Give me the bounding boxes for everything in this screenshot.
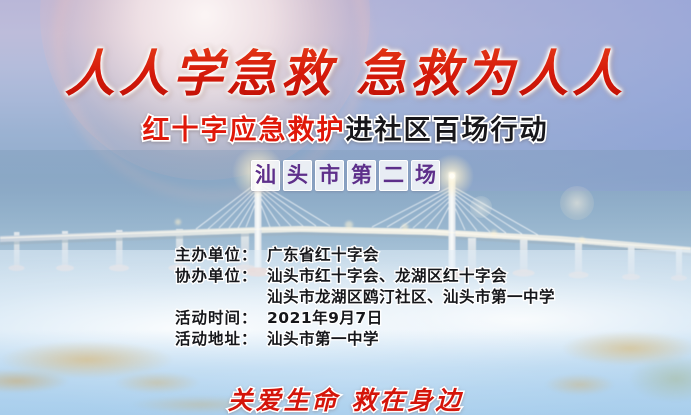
- main-title: 人人学急救 急救为人人: [0, 34, 691, 106]
- info-row-label: 活动地址：: [175, 329, 267, 350]
- subtitle-dark-part: 进社区百场行动: [346, 115, 549, 146]
- subtitle: 红十字应急救护进社区百场行动: [0, 108, 691, 147]
- session-badge-char-1: 头: [283, 160, 312, 191]
- info-row: 协办单位：汕头市红十字会、龙湖区红十字会: [175, 266, 555, 287]
- info-row: 活动时间：2021年9月7日: [175, 308, 555, 329]
- info-row: 主办单位：广东省红十字会: [175, 245, 555, 266]
- info-row-value: 汕头市红十字会、龙湖区红十字会: [267, 266, 507, 287]
- info-row-value: 广东省红十字会: [267, 245, 379, 266]
- poster-canvas: 人人学急救 急救为人人 红十字应急救护进社区百场行动 汕头市第二场 主办单位：广…: [0, 0, 691, 415]
- session-badge: 汕头市第二场: [0, 160, 691, 191]
- session-badge-char-2: 市: [315, 160, 344, 191]
- session-badge-char-4: 二: [379, 160, 408, 191]
- bottom-slogan: 关爱生命 救在身边: [0, 381, 691, 415]
- info-row: 汕头市龙湖区鸥汀社区、汕头市第一中学: [175, 287, 555, 308]
- info-row-label: 主办单位：: [175, 245, 267, 266]
- info-row-label: [175, 287, 267, 308]
- subtitle-red-part: 红十字应急救护: [143, 115, 346, 146]
- session-badge-char-0: 汕: [251, 160, 280, 191]
- info-row-value: 汕头市龙湖区鸥汀社区、汕头市第一中学: [267, 287, 555, 308]
- info-row-label: 活动时间：: [175, 308, 267, 329]
- info-row-label: 协办单位：: [175, 266, 267, 287]
- session-badge-char-5: 场: [411, 160, 440, 191]
- event-info-block: 主办单位：广东省红十字会协办单位：汕头市红十字会、龙湖区红十字会汕头市龙湖区鸥汀…: [175, 245, 555, 350]
- info-row-value: 汕头市第一中学: [267, 329, 379, 350]
- info-row-value: 2021年9月7日: [267, 308, 383, 329]
- session-badge-char-3: 第: [347, 160, 376, 191]
- info-row: 活动地址：汕头市第一中学: [175, 329, 555, 350]
